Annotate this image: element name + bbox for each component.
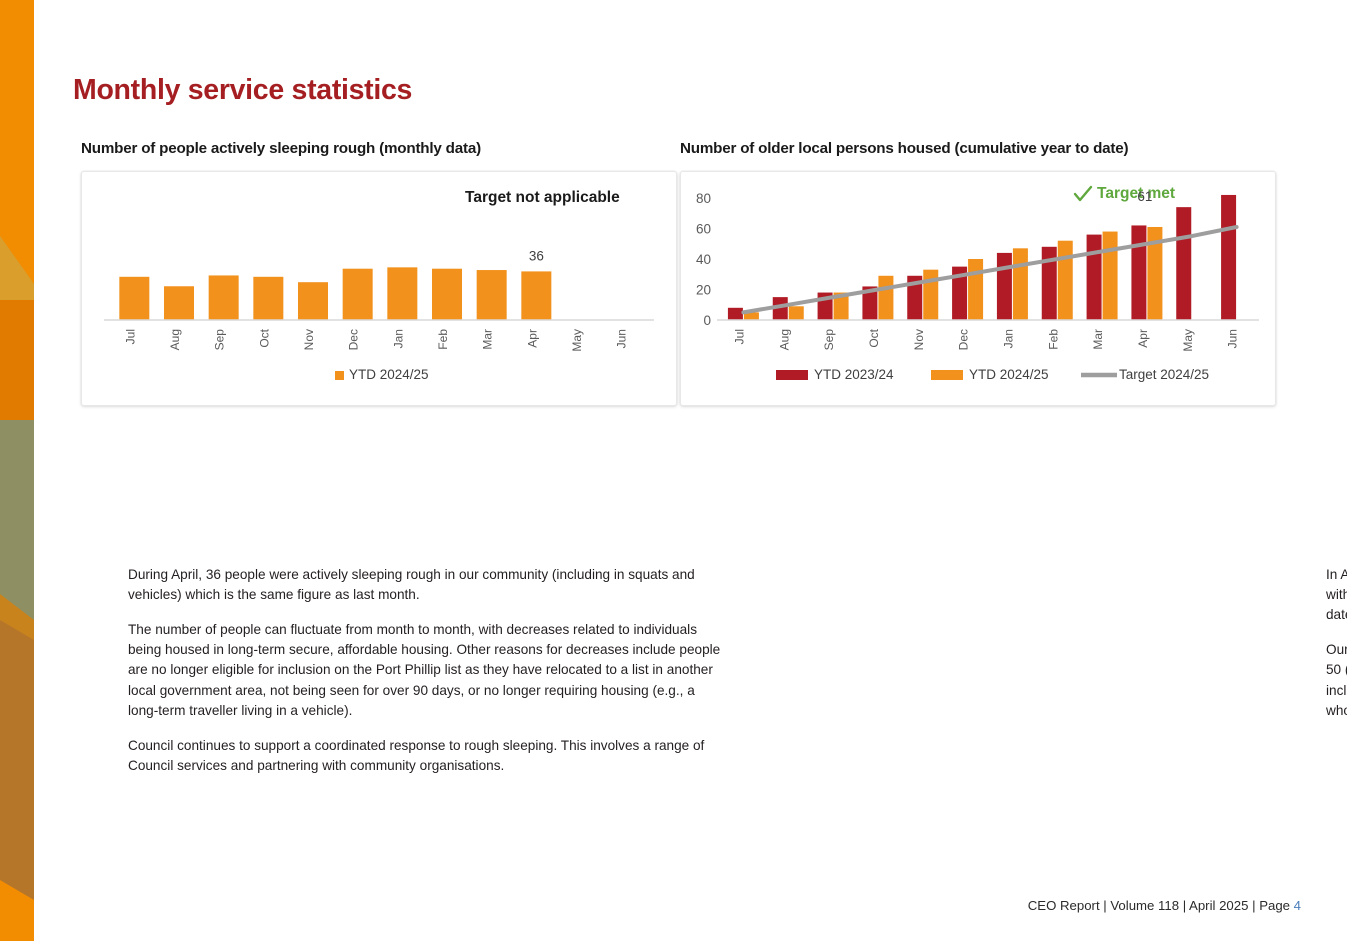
left-chart-heading: Number of people actively sleeping rough…: [81, 140, 677, 157]
right-paragraph-2: Our sponsorship housing pathway is solel…: [1326, 640, 1347, 720]
y-tick-40: 40: [696, 252, 711, 267]
bar-2023-24-jun: [1221, 195, 1236, 320]
x-tick-dec: Dec: [957, 329, 971, 350]
bar-2023-24-mar: [1087, 235, 1102, 320]
x-tick-nov: Nov: [302, 329, 316, 350]
x-tick-sep: Sep: [213, 329, 227, 351]
bar-apr: [521, 271, 551, 320]
bar-jan: [387, 267, 417, 320]
rough-sleeping-plot: 36: [119, 248, 551, 320]
left-body-copy: During April, 36 people were actively sl…: [128, 565, 724, 776]
bar-dec: [343, 269, 373, 320]
bar-feb: [432, 269, 462, 320]
y-tick-0: 0: [703, 313, 711, 328]
bar-sep: [209, 275, 239, 320]
right-body-copy: In April, six public housing vacancies w…: [1326, 565, 1347, 721]
legend-label-ytd-2023-24[interactable]: YTD 2023/24: [814, 367, 894, 382]
x-tick-feb: Feb: [1046, 329, 1060, 350]
x-tick-jun: Jun: [615, 329, 629, 348]
target-met-annotation-group: Target met: [1075, 185, 1175, 202]
right-chart-heading: Number of older local persons housed (cu…: [680, 140, 1276, 157]
bar-2023-24-apr: [1131, 225, 1146, 320]
x-axis-tick-labels: JulAugSepOctNovDecJanFebMarAprMayJun: [732, 328, 1239, 351]
legend-label-ytd-2024-25[interactable]: YTD 2024/25: [349, 367, 429, 382]
bar-jul: [119, 277, 149, 320]
page-title: Monthly service statistics: [73, 74, 412, 107]
footer-page-number: 4: [1294, 898, 1301, 913]
older-persons-housed-plot: 61: [728, 189, 1237, 320]
right-paragraph-1: In April, six public housing vacancies w…: [1326, 565, 1347, 625]
x-tick-apr: Apr: [1136, 329, 1150, 348]
x-tick-jul: Jul: [732, 329, 746, 344]
y-axis-tick-labels: 020406080: [696, 191, 711, 328]
bar-nov: [298, 282, 328, 320]
x-tick-sep: Sep: [822, 329, 836, 351]
x-tick-mar: Mar: [481, 329, 495, 350]
page-canvas: Monthly service statistics Number of peo…: [34, 0, 1347, 941]
target-met-annotation: Target met: [1097, 185, 1175, 202]
chart-legend[interactable]: YTD 2023/24YTD 2024/25Target 2024/25: [776, 367, 1209, 382]
legend-swatch-ytd-2024-25: [335, 371, 344, 380]
check-icon: [1075, 187, 1091, 200]
x-axis-tick-labels: JulAugSepOctNovDecJanFebMarAprMayJun: [123, 328, 628, 351]
footer-text: CEO Report | Volume 118 | April 2025 | P…: [1028, 898, 1294, 913]
x-tick-mar: Mar: [1091, 329, 1105, 350]
bar-aug: [164, 286, 194, 320]
legend-swatch-ytd-2023-24: [776, 370, 808, 380]
legend-label-ytd-2024-25[interactable]: YTD 2024/25: [969, 367, 1049, 382]
decorative-left-edge: [0, 0, 34, 941]
x-tick-nov: Nov: [912, 329, 926, 350]
y-tick-60: 60: [696, 222, 711, 237]
rough-sleeping-chart-card[interactable]: Target not applicable 36 JulAugSepOctNov…: [81, 171, 677, 406]
bar-2024-25-aug: [789, 306, 804, 320]
x-tick-aug: Aug: [777, 329, 791, 350]
data-label-apr: 36: [529, 248, 544, 263]
target-not-applicable-annotation: Target not applicable: [465, 189, 620, 206]
footer: CEO Report | Volume 118 | April 2025 | P…: [1028, 898, 1301, 913]
bar-2024-25-oct: [878, 276, 893, 320]
older-persons-housed-chart-card[interactable]: Target met 020406080 61 JulAugSepOctNovD…: [680, 171, 1276, 406]
x-tick-oct: Oct: [257, 328, 271, 347]
legend-label-target-2024-25[interactable]: Target 2024/25: [1119, 367, 1209, 382]
left-paragraph-1: During April, 36 people were actively sl…: [128, 565, 724, 605]
legend-swatch-ytd-2024-25: [931, 370, 963, 380]
bar-2023-24-may: [1176, 207, 1191, 320]
bar-2024-25-nov: [923, 270, 938, 320]
x-tick-dec: Dec: [347, 329, 361, 350]
left-column: Number of people actively sleeping rough…: [81, 140, 677, 406]
y-tick-80: 80: [696, 191, 711, 206]
bar-oct: [253, 277, 283, 320]
y-tick-20: 20: [696, 283, 711, 298]
left-paragraph-2: The number of people can fluctuate from …: [128, 620, 724, 721]
bar-2024-25-dec: [968, 259, 983, 320]
bar-2023-24-jul: [728, 308, 743, 320]
data-label-apr: 61: [1137, 189, 1152, 204]
x-tick-jan: Jan: [391, 329, 405, 348]
x-tick-feb: Feb: [436, 329, 450, 350]
chart-legend[interactable]: YTD 2024/25: [335, 367, 429, 382]
x-tick-apr: Apr: [525, 329, 539, 348]
x-tick-oct: Oct: [867, 328, 881, 347]
bar-2023-24-jan: [997, 253, 1012, 320]
rough-sleeping-chart[interactable]: Target not applicable 36 JulAugSepOctNov…: [82, 172, 676, 405]
bar-mar: [477, 270, 507, 320]
x-tick-aug: Aug: [168, 329, 182, 350]
bar-2024-25-jan: [1013, 248, 1028, 320]
older-persons-housed-chart[interactable]: Target met 020406080 61 JulAugSepOctNovD…: [681, 172, 1275, 405]
bar-2024-25-feb: [1058, 241, 1073, 320]
x-tick-jul: Jul: [123, 329, 137, 344]
target-line-2024-25: [743, 227, 1236, 312]
x-tick-may: May: [570, 329, 584, 352]
bar-2024-25-mar: [1103, 232, 1118, 320]
right-column: Number of older local persons housed (cu…: [680, 140, 1276, 406]
x-tick-jun: Jun: [1226, 329, 1240, 348]
left-paragraph-3: Council continues to support a coordinat…: [128, 736, 724, 776]
x-tick-jan: Jan: [1001, 329, 1015, 348]
x-tick-may: May: [1181, 329, 1195, 352]
